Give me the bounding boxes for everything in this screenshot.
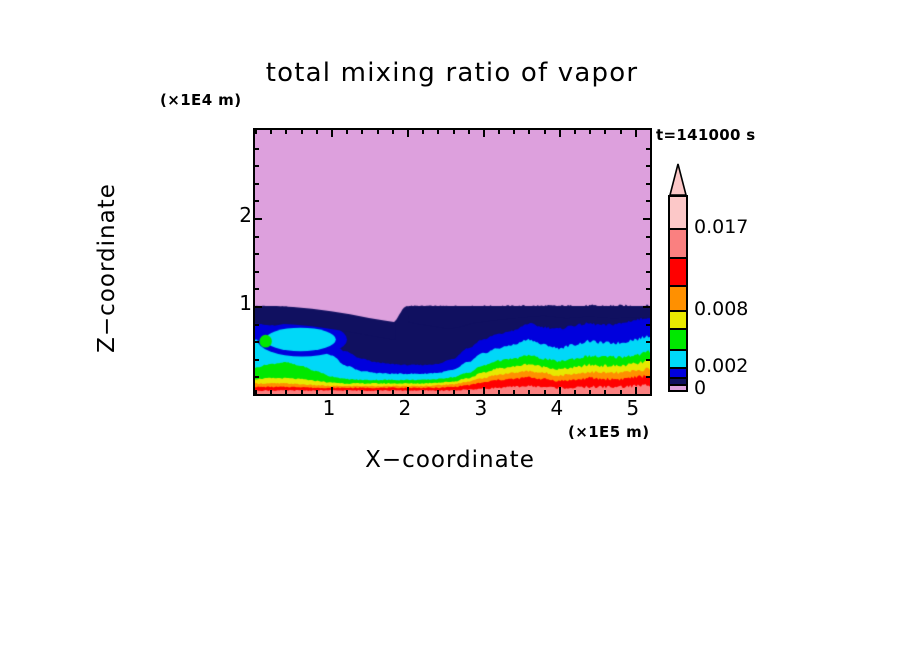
x-tick-minor-bottom	[453, 390, 455, 394]
z-tick-minor-right	[646, 148, 650, 150]
z-tick-minor-right	[646, 253, 650, 255]
z-tick-label: 2	[222, 203, 252, 227]
colorbar-band	[670, 311, 686, 328]
x-tick-major-bottom	[407, 387, 409, 394]
x-tick-minor-bottom	[392, 390, 394, 394]
x-tick-minor-bottom	[316, 390, 318, 394]
x-tick-minor-bottom	[528, 390, 530, 394]
colorbar-bands	[668, 195, 688, 392]
colorbar-separator	[668, 285, 688, 287]
x-tick-minor-bottom	[361, 390, 363, 394]
contour-field	[255, 130, 650, 394]
z-tick-label: 1	[222, 291, 252, 315]
x-tick-minor	[392, 130, 394, 134]
z-tick-minor-right	[646, 271, 650, 273]
x-tick-label: 4	[542, 396, 572, 420]
x-tick-minor-bottom	[437, 390, 439, 394]
colorbar-top-arrow-icon	[668, 163, 688, 196]
x-tick-label: 2	[390, 396, 420, 420]
z-tick-minor	[255, 236, 259, 238]
z-tick-major-right	[643, 306, 650, 308]
x-tick-minor-bottom	[544, 390, 546, 394]
contour-plot-area	[253, 128, 652, 396]
x-tick-minor-bottom	[346, 390, 348, 394]
x-tick-major	[559, 130, 561, 137]
z-tick-minor-right	[646, 341, 650, 343]
x-tick-minor-bottom	[285, 390, 287, 394]
z-tick-minor-right	[646, 236, 650, 238]
colorbar-band	[670, 350, 686, 367]
x-tick-minor-bottom	[620, 390, 622, 394]
x-tick-minor	[361, 130, 363, 134]
z-tick-minor-right	[646, 183, 650, 185]
x-tick-major	[635, 130, 637, 137]
figure-canvas: total mixing ratio of vapor (×1E4 m) t=1…	[0, 0, 904, 654]
x-tick-minor	[255, 130, 257, 134]
x-tick-minor	[316, 130, 318, 134]
x-tick-minor	[270, 130, 272, 134]
x-tick-minor	[604, 130, 606, 134]
x-tick-minor	[544, 130, 546, 134]
x-tick-minor	[346, 130, 348, 134]
x-tick-major-bottom	[483, 387, 485, 394]
x-tick-major	[483, 130, 485, 137]
colorbar-band	[670, 329, 686, 350]
colorbar-separator	[668, 328, 688, 330]
z-tick-major-right	[643, 218, 650, 220]
colorbar-separator	[668, 228, 688, 230]
colorbar-tick-label: 0.017	[694, 216, 748, 238]
x-axis-units-label: (×1E5 m)	[568, 423, 649, 441]
x-tick-major	[331, 130, 333, 137]
x-tick-minor-bottom	[604, 390, 606, 394]
x-tick-label: 3	[466, 396, 496, 420]
x-tick-minor-bottom	[574, 390, 576, 394]
x-tick-minor	[589, 130, 591, 134]
x-tick-major-bottom	[331, 387, 333, 394]
colorbar-separator	[668, 367, 688, 369]
z-tick-minor-right	[646, 359, 650, 361]
x-tick-minor-bottom	[498, 390, 500, 394]
colorbar-tick-label: 0.008	[694, 298, 748, 320]
colorbar-separator	[668, 377, 688, 379]
z-tick-minor-right	[646, 376, 650, 378]
colorbar-separator	[668, 310, 688, 312]
x-tick-major	[407, 130, 409, 137]
x-tick-minor	[453, 130, 455, 134]
colorbar-band	[670, 229, 686, 258]
z-tick-minor	[255, 324, 259, 326]
colorbar	[668, 163, 688, 392]
x-tick-minor	[513, 130, 515, 134]
x-axis-title: X−coordinate	[250, 447, 650, 473]
x-tick-minor	[498, 130, 500, 134]
z-tick-minor	[255, 271, 259, 273]
z-tick-minor	[255, 359, 259, 361]
z-tick-major	[255, 218, 262, 220]
colorbar-band	[670, 286, 686, 311]
x-tick-minor-bottom	[377, 390, 379, 394]
x-tick-label: 1	[314, 396, 344, 420]
colorbar-separator	[668, 349, 688, 351]
x-tick-minor-bottom	[422, 390, 424, 394]
x-tick-minor	[377, 130, 379, 134]
z-tick-minor	[255, 253, 259, 255]
x-tick-minor-bottom	[589, 390, 591, 394]
colorbar-tick-label: 0	[694, 377, 706, 399]
z-tick-minor	[255, 376, 259, 378]
x-tick-minor	[301, 130, 303, 134]
x-tick-minor-bottom	[301, 390, 303, 394]
x-tick-minor-bottom	[513, 390, 515, 394]
z-tick-major	[255, 306, 262, 308]
z-tick-minor	[255, 200, 259, 202]
x-tick-minor	[437, 130, 439, 134]
z-axis-units-label: (×1E4 m)	[160, 91, 241, 109]
z-tick-minor-right	[646, 165, 650, 167]
x-tick-label: 5	[618, 396, 648, 420]
x-tick-minor	[422, 130, 424, 134]
page-title: total mixing ratio of vapor	[0, 58, 904, 88]
x-tick-minor	[574, 130, 576, 134]
x-tick-minor-bottom	[270, 390, 272, 394]
colorbar-tick-label: 0.002	[694, 355, 748, 377]
z-tick-minor-right	[646, 288, 650, 290]
z-tick-minor	[255, 165, 259, 167]
x-tick-minor	[285, 130, 287, 134]
colorbar-separator	[668, 257, 688, 259]
colorbar-band	[670, 197, 686, 229]
z-tick-minor	[255, 148, 259, 150]
x-tick-minor	[528, 130, 530, 134]
x-tick-minor	[468, 130, 470, 134]
x-tick-major-bottom	[635, 387, 637, 394]
x-tick-minor	[620, 130, 622, 134]
z-tick-minor	[255, 288, 259, 290]
x-tick-minor-bottom	[468, 390, 470, 394]
x-tick-major-bottom	[559, 387, 561, 394]
z-axis-title: Z−coordinate	[94, 138, 120, 398]
colorbar-separator	[668, 384, 688, 386]
z-tick-minor	[255, 183, 259, 185]
z-tick-minor-right	[646, 200, 650, 202]
z-tick-minor-right	[646, 324, 650, 326]
z-tick-minor	[255, 341, 259, 343]
z-tick-minor	[255, 394, 259, 396]
time-stamp-label: t=141000 s	[656, 126, 756, 144]
colorbar-band	[670, 258, 686, 286]
